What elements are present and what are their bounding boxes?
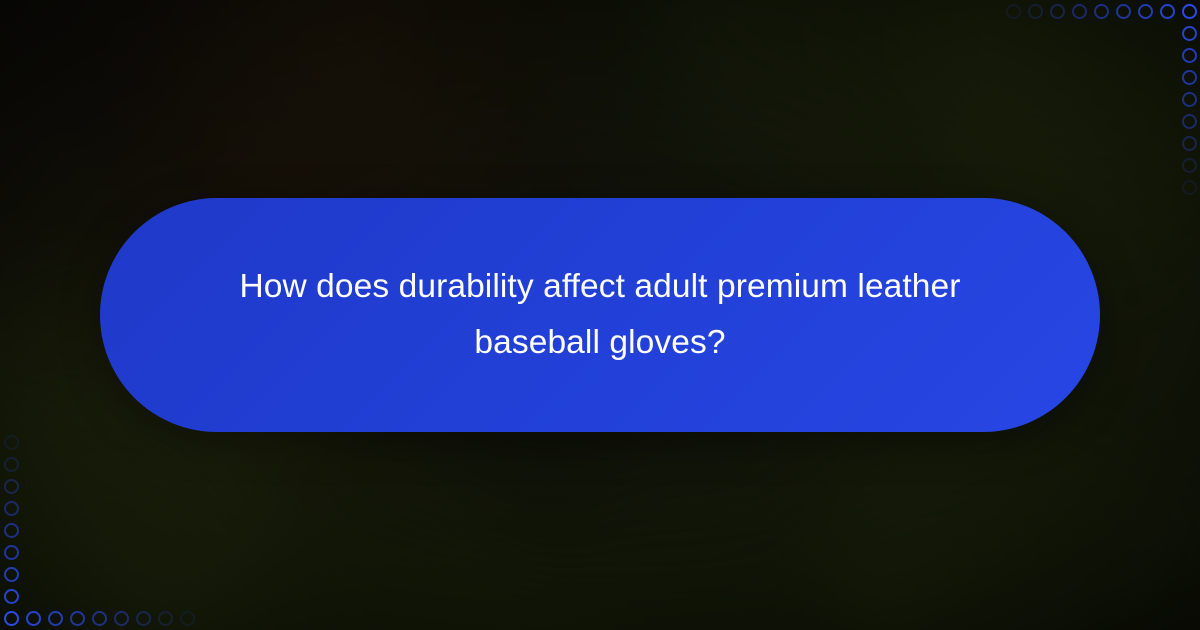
question-card[interactable]: How does durability affect adult premium… [100, 198, 1100, 432]
screenshot-canvas: How does durability affect adult premium… [0, 0, 1200, 630]
question-text: How does durability affect adult premium… [235, 259, 965, 371]
